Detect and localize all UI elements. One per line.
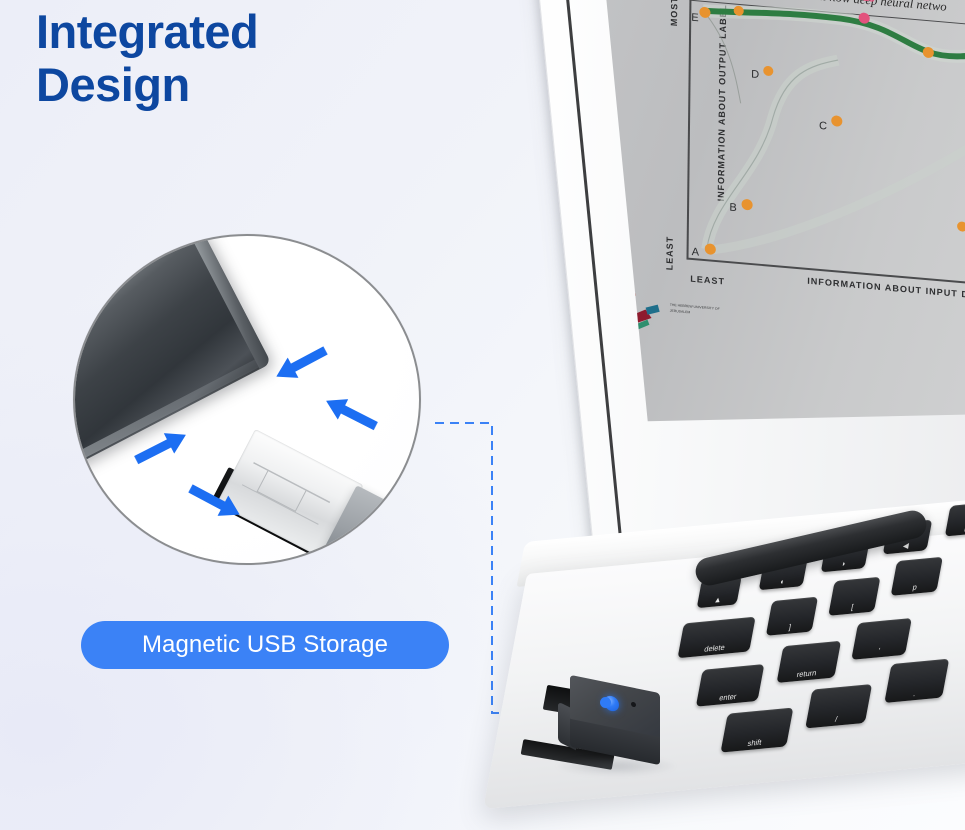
chart-point-label-d: D — [751, 68, 759, 81]
magnet-arrow-up-right-icon — [271, 340, 331, 387]
callout-endpoint-dot — [600, 697, 611, 708]
chart-point-label-a: A — [692, 246, 700, 259]
magnetic-usb-drive[interactable] — [558, 684, 678, 776]
caption-label: Magnetic USB Storage — [142, 631, 388, 659]
key-bracket-right[interactable]: ] — [766, 597, 818, 636]
chart-point-d — [763, 66, 773, 77]
product-marketing-banner: Integrated Design Magnetic USB Storage — [0, 0, 965, 830]
pinhole-indicator — [631, 701, 636, 707]
chart-point-c — [831, 115, 842, 127]
chart-point-mid — [923, 47, 934, 59]
chart-y-tick-least: LEAST — [664, 236, 674, 271]
key-p[interactable]: p — [891, 557, 943, 596]
chart-y-tick-most: MOST — [669, 0, 679, 27]
chart-point-label-e: E — [691, 12, 699, 25]
usb-a-connector — [215, 429, 421, 565]
chart-point-label-c: C — [819, 120, 827, 133]
screen-content: AI hardware The Information Theory: Firs… — [593, 0, 965, 421]
key-slash[interactable]: / — [805, 684, 872, 729]
page-title: Integrated Design — [36, 6, 456, 111]
chart-point-l4 — [734, 5, 744, 16]
chart-point-far-b — [957, 221, 965, 232]
chart-x-tick-least: LEAST — [690, 274, 725, 287]
key-period[interactable]: . — [884, 659, 949, 703]
chart-point-label-b: B — [729, 202, 737, 215]
screen-chart: INFORMATION ABOUT OUTPUT LABEL MOST LEAS… — [686, 0, 965, 327]
status-badge: Magnetic USB Storage — [81, 621, 449, 669]
laptop-screen: AI hardware The Information Theory: Firs… — [593, 0, 965, 421]
chart-point-b — [741, 199, 752, 211]
key-bracket-left[interactable]: [ — [828, 577, 880, 616]
magnified-detail-circle — [73, 234, 421, 565]
chart-point-a — [705, 243, 716, 255]
key-delete[interactable]: delete — [677, 617, 755, 659]
connector-notch — [257, 470, 307, 512]
magnet-arrow-down-right-icon — [321, 391, 381, 437]
page-title-line2: Design — [36, 59, 456, 112]
key-shift[interactable]: shift — [720, 708, 793, 753]
chart-point-e — [699, 6, 710, 18]
key-quote[interactable]: ' — [851, 618, 912, 660]
key-backslash[interactable]: enter — [696, 664, 765, 707]
chart-series-group — [686, 0, 965, 289]
university-logo-icon — [611, 283, 678, 338]
page-title-line1: Integrated — [36, 5, 258, 58]
chart-point-l3 — [859, 12, 870, 24]
key-return[interactable]: return — [777, 641, 842, 683]
